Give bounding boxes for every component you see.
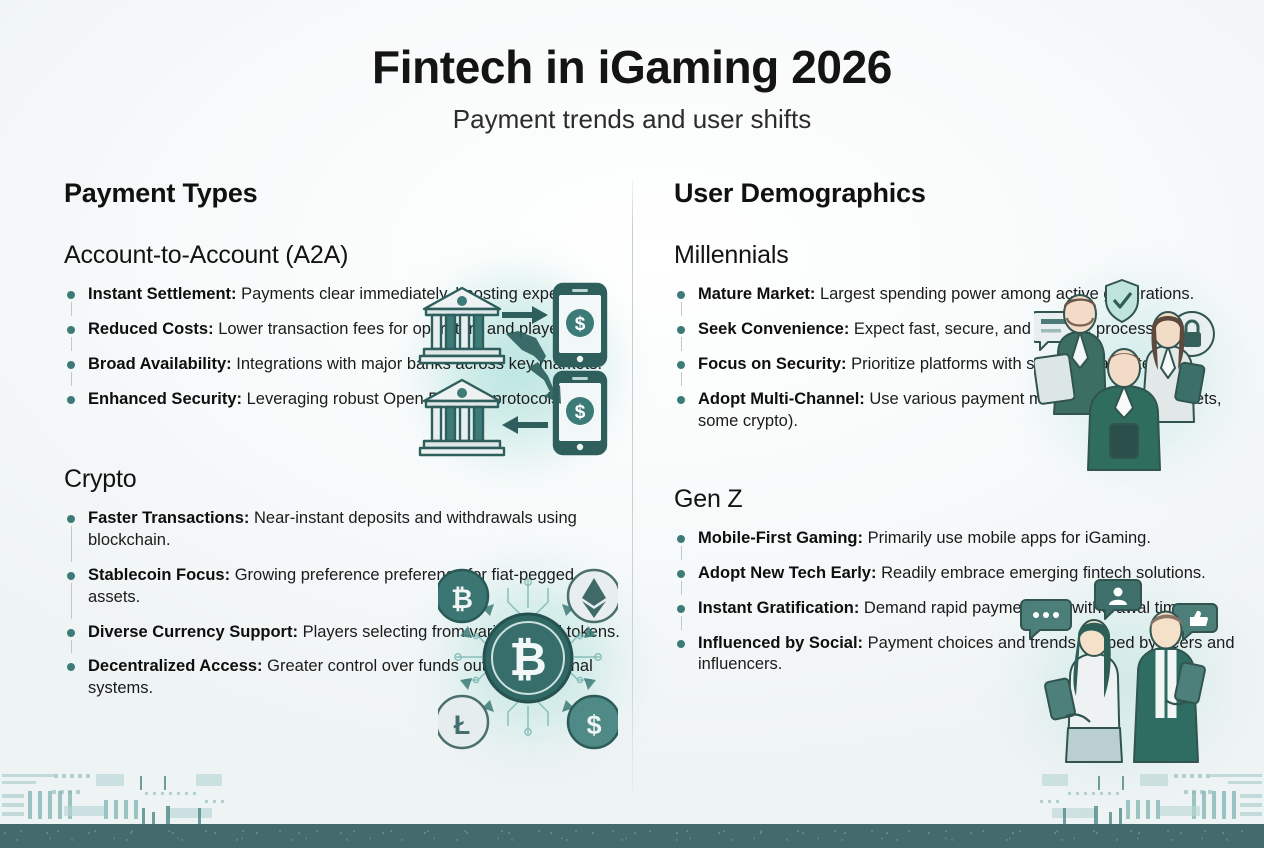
- bullet-lead: Enhanced Security:: [88, 390, 242, 408]
- bullet-dot-icon: [677, 535, 685, 543]
- svg-text:Ł: Ł: [454, 710, 471, 740]
- bullet-dot-icon: [67, 572, 75, 580]
- bullet-lead: Adopt Multi-Channel:: [698, 390, 865, 408]
- bullet-lead: Broad Availability:: [88, 355, 232, 373]
- svg-text:$: $: [575, 402, 586, 423]
- crypto-coins-network-illustration: ₿ ₿ Ł $: [438, 562, 618, 757]
- bullet-lead: Instant Gratification:: [698, 599, 859, 617]
- bullet-connector: [71, 337, 72, 351]
- bullet-connector: [681, 302, 682, 316]
- section-heading-millennials: Millennials: [674, 241, 1240, 270]
- svg-text:₿: ₿: [509, 633, 547, 685]
- list-item: Faster Transactions: Near-instant deposi…: [64, 508, 624, 552]
- bullet-connector: [71, 640, 72, 654]
- bullet-connector: [681, 546, 682, 560]
- bullet-lead: Influenced by Social:: [698, 634, 863, 652]
- page-title: Fintech in iGaming 2026: [0, 42, 1264, 94]
- column-title-payment-types: Payment Types: [64, 178, 624, 209]
- bullet-dot-icon: [67, 291, 75, 299]
- bullet-lead: Faster Transactions:: [88, 509, 249, 527]
- poster-header: Fintech in iGaming 2026 Payment trends a…: [0, 42, 1264, 135]
- bullet-connector: [681, 581, 682, 595]
- svg-text:$: $: [575, 314, 586, 335]
- bullet-dot-icon: [677, 640, 685, 648]
- bullet-lead: Instant Settlement:: [88, 285, 237, 303]
- bullet-dot-icon: [67, 663, 75, 671]
- millennial-professionals-illustration: [1034, 272, 1224, 482]
- page-subtitle: Payment trends and user shifts: [0, 104, 1264, 135]
- bullet-connector: [71, 583, 72, 619]
- bank-to-phone-transfer-illustration: $ $: [418, 272, 618, 472]
- bullet-lead: Adopt New Tech Early:: [698, 564, 876, 582]
- bullet-lead: Stablecoin Focus:: [88, 566, 230, 584]
- bottom-right-decoration: [934, 768, 1264, 824]
- bullet-dot-icon: [67, 515, 75, 523]
- bullet-lead: Reduced Costs:: [88, 320, 214, 338]
- column-divider: [632, 180, 633, 790]
- bullet-connector: [681, 616, 682, 630]
- bullet-lead: Mobile-First Gaming:: [698, 529, 863, 547]
- bullet-lead: Decentralized Access:: [88, 657, 263, 675]
- svg-text:₿: ₿: [451, 584, 473, 614]
- bottom-left-decoration: [0, 768, 330, 824]
- bullet-dot-icon: [677, 605, 685, 613]
- section-heading-gen-z: Gen Z: [674, 485, 1240, 514]
- bullet-dot-icon: [677, 396, 685, 404]
- bullet-dot-icon: [677, 326, 685, 334]
- svg-text:$: $: [586, 710, 601, 740]
- bullet-dot-icon: [677, 291, 685, 299]
- bullet-lead: Focus on Security:: [698, 355, 847, 373]
- list-item: Mobile-First Gaming: Primarily use mobil…: [674, 528, 1240, 550]
- bullet-connector: [71, 372, 72, 386]
- gen-z-mobile-users-illustration: [1014, 578, 1234, 773]
- bullet-text: Primarily use mobile apps for iGaming.: [863, 529, 1151, 547]
- column-title-user-demographics: User Demographics: [674, 178, 1240, 209]
- bullet-dot-icon: [677, 361, 685, 369]
- bullet-connector: [681, 372, 682, 386]
- bullet-connector: [71, 302, 72, 316]
- bullet-lead: Mature Market:: [698, 285, 815, 303]
- bullet-dot-icon: [67, 361, 75, 369]
- bullet-dot-icon: [67, 326, 75, 334]
- section-heading-a2a: Account-to-Account (A2A): [64, 241, 624, 270]
- bullet-connector: [71, 526, 72, 562]
- footer-strip: [0, 824, 1264, 848]
- bullet-connector: [681, 337, 682, 351]
- bullet-dot-icon: [67, 629, 75, 637]
- bullet-lead: Seek Convenience:: [698, 320, 849, 338]
- bullet-dot-icon: [677, 570, 685, 578]
- bullet-dot-icon: [67, 396, 75, 404]
- infographic-poster: Fintech in iGaming 2026 Payment trends a…: [0, 0, 1264, 848]
- bullet-lead: Diverse Currency Support:: [88, 623, 298, 641]
